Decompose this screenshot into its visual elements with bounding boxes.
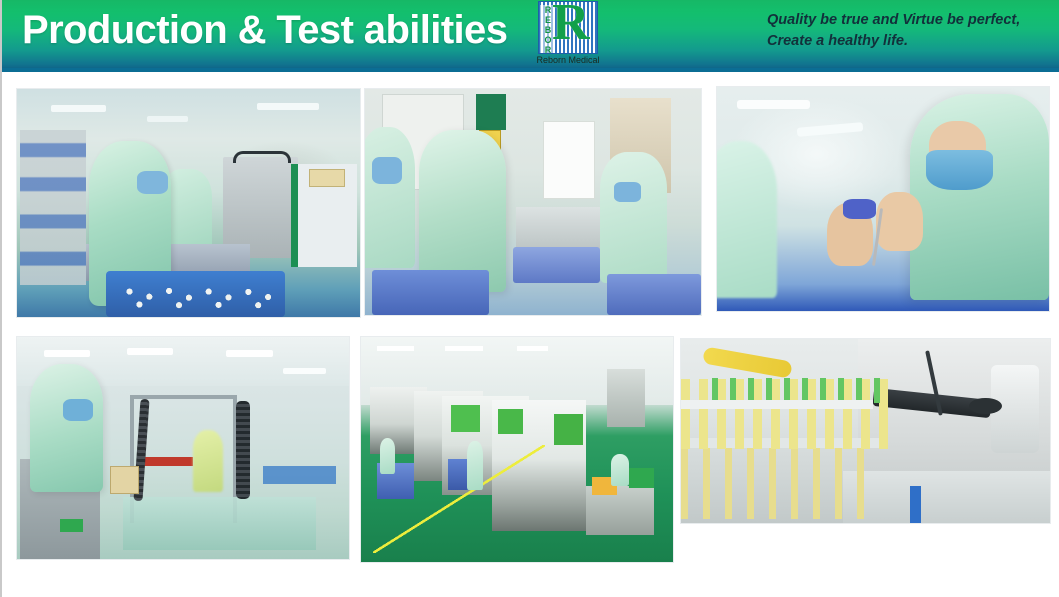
worker-background <box>716 141 777 298</box>
worker-left <box>380 438 396 474</box>
ceiling-light <box>44 350 90 357</box>
worker-foreground <box>910 94 1049 300</box>
photo-1-content <box>17 89 360 317</box>
face-mask <box>63 399 93 421</box>
logo-letter-r: R <box>552 1 590 49</box>
photo-3-content <box>717 87 1049 311</box>
worker-foreground <box>30 364 103 493</box>
face-mask <box>926 150 992 190</box>
robot-arm <box>607 369 644 428</box>
photo-6-content <box>681 339 1050 523</box>
ceiling-light <box>127 348 173 355</box>
photo-machine-operation <box>16 336 350 560</box>
photo-device-inspection <box>716 86 1050 312</box>
blue-panel <box>910 486 921 523</box>
component-stems <box>681 442 866 519</box>
machine-handle <box>233 151 290 163</box>
glass-conveyor <box>123 497 316 550</box>
worker-hand-right <box>876 192 922 250</box>
company-tagline: Quality be true and Virtue be perfect, C… <box>767 10 1047 52</box>
photo-component-line <box>680 338 1051 524</box>
tagline-line-1: Quality be true and Virtue be perfect, <box>767 10 1047 31</box>
yellow-hose <box>702 346 792 378</box>
photo-5-content <box>361 337 673 562</box>
worker-right <box>600 152 667 283</box>
parts-shelf <box>20 130 85 285</box>
worker-left <box>364 127 415 267</box>
photo-cleanroom-assembly <box>16 88 361 318</box>
photo-2-content <box>365 89 701 315</box>
machine-green-panel <box>554 414 582 446</box>
photo-4-content <box>17 337 349 559</box>
machine-green-panel <box>451 405 479 432</box>
worker-center <box>467 441 483 491</box>
photo-factory-floor <box>360 336 674 563</box>
machine-green-panel <box>498 409 523 434</box>
ceiling-light <box>283 368 326 374</box>
machine-frame <box>130 395 236 399</box>
worker-background <box>193 430 223 492</box>
ceiling-light <box>517 346 548 351</box>
ceiling-light <box>226 350 272 357</box>
white-components <box>113 278 278 312</box>
ceiling-light <box>147 116 188 122</box>
ceiling-light <box>796 122 863 137</box>
wall-panel <box>476 94 506 130</box>
bench-machine <box>223 157 298 257</box>
ceiling-light <box>445 346 482 351</box>
ceiling-light <box>51 105 106 112</box>
equipment-panel <box>263 466 336 484</box>
ceiling-light <box>737 100 810 109</box>
paper-tag <box>110 466 139 495</box>
ceiling-light <box>257 103 319 110</box>
logo-mark-icon: REBORN R <box>538 1 598 54</box>
machine-indicator <box>140 457 193 466</box>
tagline-line-2: Create a healthy life. <box>767 31 1047 52</box>
black-hose <box>236 401 250 499</box>
conveyor-rail <box>681 400 873 409</box>
face-mask <box>372 157 402 184</box>
ceiling-light <box>377 346 414 351</box>
blue-bin <box>607 274 701 315</box>
wall-document <box>543 121 595 200</box>
slide-canvas: Production & Test abilities REBORN R Reb… <box>0 0 1059 597</box>
blue-bin <box>513 247 600 283</box>
face-mask <box>137 171 168 194</box>
blue-medical-device <box>843 199 876 219</box>
control-button <box>60 519 83 532</box>
photo-cleanroom-bins <box>364 88 702 316</box>
worker-right <box>611 454 630 486</box>
banner-underline <box>2 68 1059 72</box>
paper-tag <box>309 169 345 187</box>
machine-base <box>843 471 1050 523</box>
blue-bin <box>372 270 490 315</box>
page-title: Production & Test abilities <box>22 8 507 53</box>
face-mask <box>614 182 641 202</box>
logo-caption: Reborn Medical <box>522 55 614 65</box>
worker-center <box>419 130 506 293</box>
company-logo: REBORN R Reborn Medical <box>522 0 614 70</box>
green-crate <box>629 468 654 488</box>
header-banner: Production & Test abilities REBORN R Reb… <box>2 0 1059 70</box>
